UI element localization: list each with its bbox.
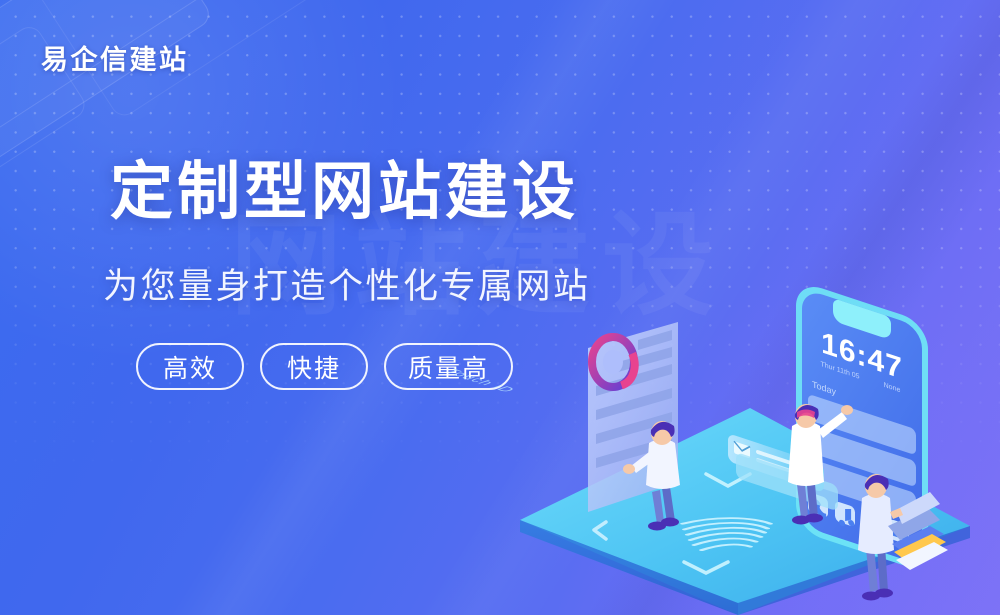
hero-illustration: Touch ID	[500, 230, 1000, 615]
brand-logo: 易企信建站	[41, 38, 189, 77]
feature-pill-group: 高效 快捷 质量高	[136, 343, 513, 390]
promo-banner: 网站建设 易企信建站 定制型网站建设 为您量身打造个性化专属网站 高效 快捷 质…	[0, 0, 1000, 615]
feature-pill-1[interactable]: 高效	[136, 343, 244, 390]
feature-pill-2[interactable]: 快捷	[260, 343, 368, 390]
page-title: 定制型网站建设	[110, 159, 579, 226]
